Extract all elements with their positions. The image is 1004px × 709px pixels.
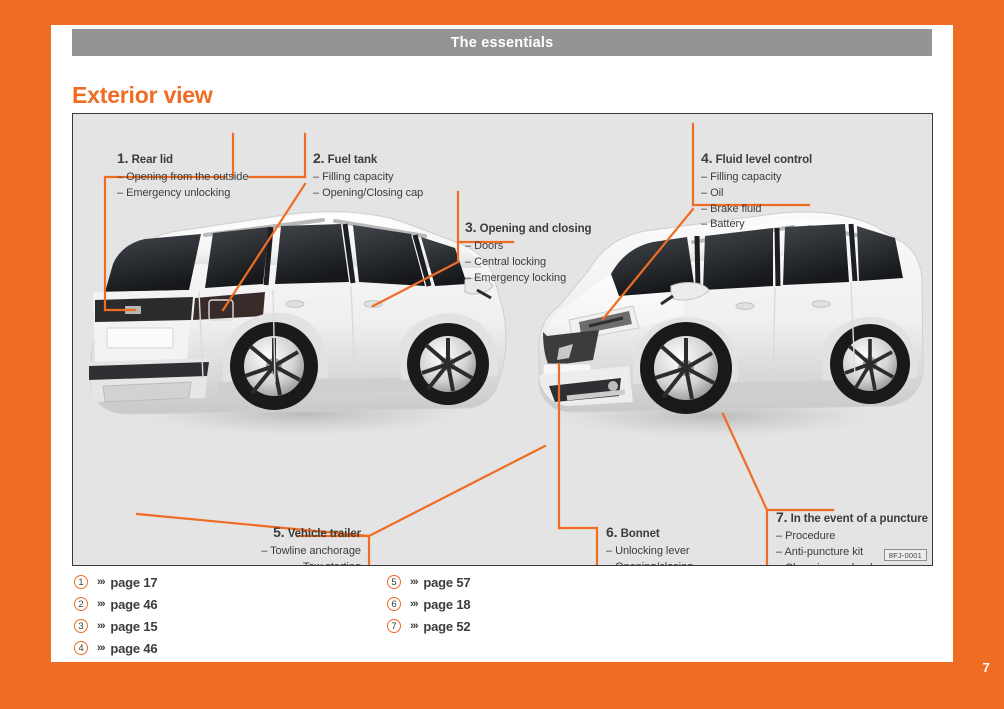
callout-5-item: – Tow starting <box>249 560 361 566</box>
figure-image-code: 8FJ-0001 <box>884 549 927 561</box>
reference-marker: 4 <box>74 641 88 655</box>
chevron-icon: ››› <box>410 598 417 610</box>
callout-2-item: – Filling capacity <box>313 170 423 186</box>
reference-item[interactable]: 6 ››› page 18 <box>387 593 470 615</box>
callout-6: 6. Bonnet – Unlocking lever – Opening/cl… <box>606 522 693 566</box>
reference-label: page 57 <box>423 575 470 590</box>
reference-marker: 1 <box>74 575 88 589</box>
callout-5-item: – Towline anchorage <box>249 544 361 560</box>
callout-4: 4. Fluid level control – Filling capacit… <box>701 148 812 233</box>
callout-7-title: 7. In the event of a puncture <box>776 507 928 528</box>
callout-6-item: – Unlocking lever <box>606 544 693 560</box>
callout-4-item: – Oil <box>701 186 812 202</box>
reference-label: page 46 <box>110 597 157 612</box>
callout-4-title: 4. Fluid level control <box>701 148 812 169</box>
reference-label: page 15 <box>110 619 157 634</box>
chevron-icon: ››› <box>410 620 417 632</box>
reference-marker: 2 <box>74 597 88 611</box>
callout-5-title: 5. Vehicle trailer <box>249 522 361 543</box>
callout-1-item: – Emergency unlocking <box>117 186 248 202</box>
reference-item[interactable]: 7 ››› page 52 <box>387 615 470 637</box>
running-head-label: The essentials <box>451 35 554 51</box>
callout-6-item: – Opening/closing <box>606 560 693 566</box>
callout-4-item: – Brake fluid <box>701 202 812 218</box>
callout-4-item: – Filling capacity <box>701 170 812 186</box>
callout-6-title: 6. Bonnet <box>606 522 693 543</box>
callout-7-item: – Changing a wheel <box>776 561 928 566</box>
reference-column-left: 1 ››› page 17 2 ››› page 46 3 ››› page 1… <box>74 571 157 659</box>
callout-1: 1. Rear lid – Opening from the outside –… <box>117 148 248 202</box>
callout-3: 3. Opening and closing – Doors – Central… <box>465 217 591 286</box>
reference-label: page 52 <box>423 619 470 634</box>
chevron-icon: ››› <box>97 576 104 588</box>
reference-marker: 3 <box>74 619 88 633</box>
reference-item[interactable]: 1 ››› page 17 <box>74 571 157 593</box>
chevron-icon: ››› <box>97 598 104 610</box>
callout-1-item: – Opening from the outside <box>117 170 248 186</box>
content-sheet: The essentials Exterior view <box>51 25 953 662</box>
chevron-icon: ››› <box>97 642 104 654</box>
callout-7-item: – Procedure <box>776 529 928 545</box>
callout-2: 2. Fuel tank – Filling capacity – Openin… <box>313 148 423 202</box>
reference-marker: 7 <box>387 619 401 633</box>
running-head: The essentials <box>72 29 932 56</box>
reference-label: page 17 <box>110 575 157 590</box>
vehicle-front-view <box>539 212 923 438</box>
callout-1-title: 1. Rear lid <box>117 148 248 169</box>
reference-item[interactable]: 2 ››› page 46 <box>74 593 157 615</box>
vehicle-rear-view <box>89 212 506 436</box>
callout-5: 5. Vehicle trailer – Towline anchorage –… <box>249 522 361 566</box>
callout-2-title: 2. Fuel tank <box>313 148 423 169</box>
callout-3-item: – Central locking <box>465 255 591 271</box>
reference-label: page 46 <box>110 641 157 656</box>
callout-2-item: – Opening/Closing cap <box>313 186 423 202</box>
callout-3-item: – Doors <box>465 239 591 255</box>
exterior-view-figure: 1. Rear lid – Opening from the outside –… <box>72 113 933 566</box>
manual-page: 7 The essentials Exterior view <box>0 0 1004 709</box>
callout-3-title: 3. Opening and closing <box>465 217 591 238</box>
callout-4-item: – Battery <box>701 217 812 233</box>
reference-marker: 5 <box>387 575 401 589</box>
page-number: 7 <box>982 660 990 675</box>
reference-item[interactable]: 3 ››› page 15 <box>74 615 157 637</box>
callout-3-item: – Emergency locking <box>465 271 591 287</box>
page-title: Exterior view <box>72 82 213 109</box>
reference-item[interactable]: 5 ››› page 57 <box>387 571 470 593</box>
chevron-icon: ››› <box>97 620 104 632</box>
reference-column-right: 5 ››› page 57 6 ››› page 18 7 ››› page 5… <box>387 571 470 637</box>
reference-item[interactable]: 4 ››› page 46 <box>74 637 157 659</box>
chevron-icon: ››› <box>410 576 417 588</box>
reference-marker: 6 <box>387 597 401 611</box>
reference-label: page 18 <box>423 597 470 612</box>
